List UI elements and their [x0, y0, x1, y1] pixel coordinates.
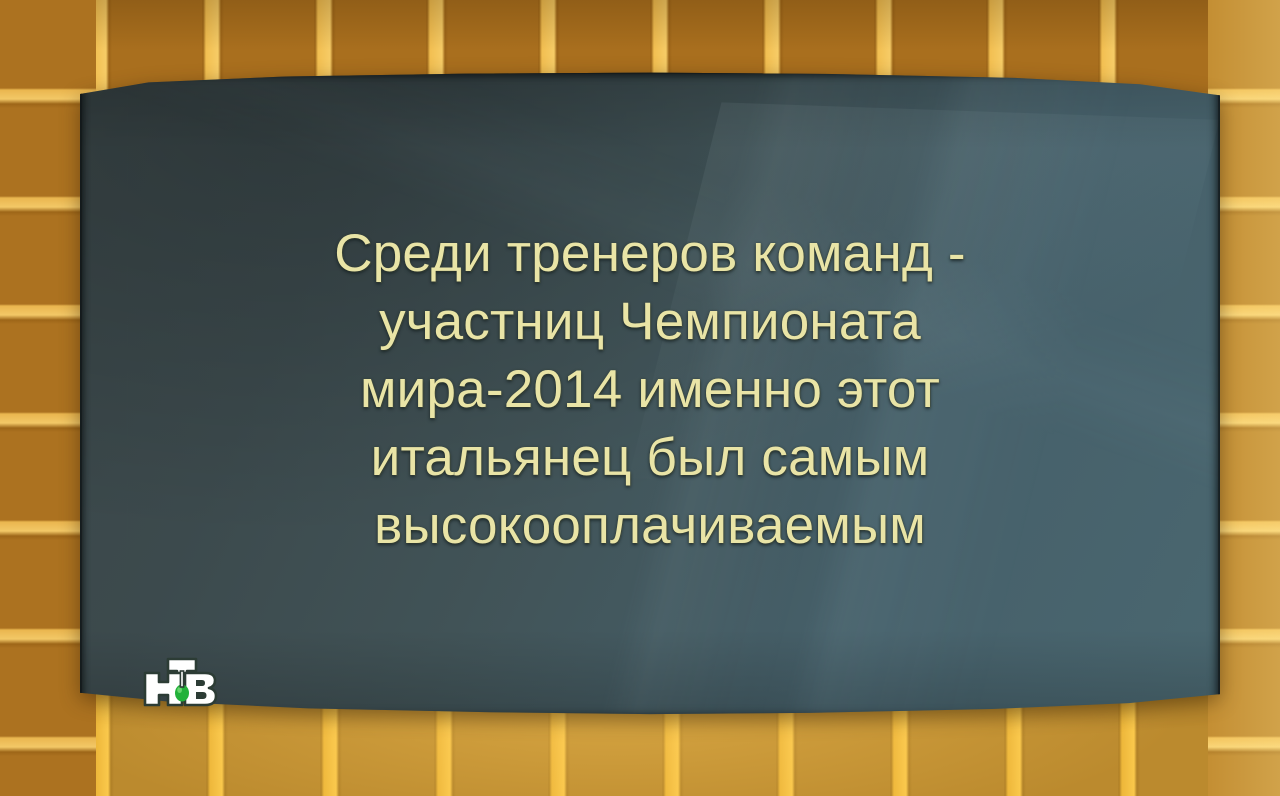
- caption-line-5: высокооплачиваемым: [128, 492, 1172, 560]
- display-board: Среди тренеров команд - участниц Чемпион…: [80, 72, 1220, 720]
- board-vignette: [80, 72, 1220, 720]
- caption-line-3: мира-2014 именно этот: [128, 356, 1172, 424]
- caption-line-1: Среди тренеров команд -: [128, 220, 1172, 288]
- board-bezel: [80, 72, 1220, 720]
- caption-line-4: итальянец был самым: [128, 424, 1172, 492]
- screenshot-stage: Среди тренеров команд - участниц Чемпион…: [0, 0, 1280, 796]
- board-reflection: [80, 72, 1220, 720]
- caption-text-block: Среди тренеров команд - участниц Чемпион…: [80, 220, 1220, 560]
- ntv-logo: [142, 655, 220, 711]
- board-reflection-highlight: [628, 102, 1219, 495]
- board-surface: Среди тренеров команд - участниц Чемпион…: [80, 72, 1220, 720]
- caption-line-2: участниц Чемпионата: [128, 288, 1172, 356]
- ntv-logo-glyphs: [145, 659, 216, 705]
